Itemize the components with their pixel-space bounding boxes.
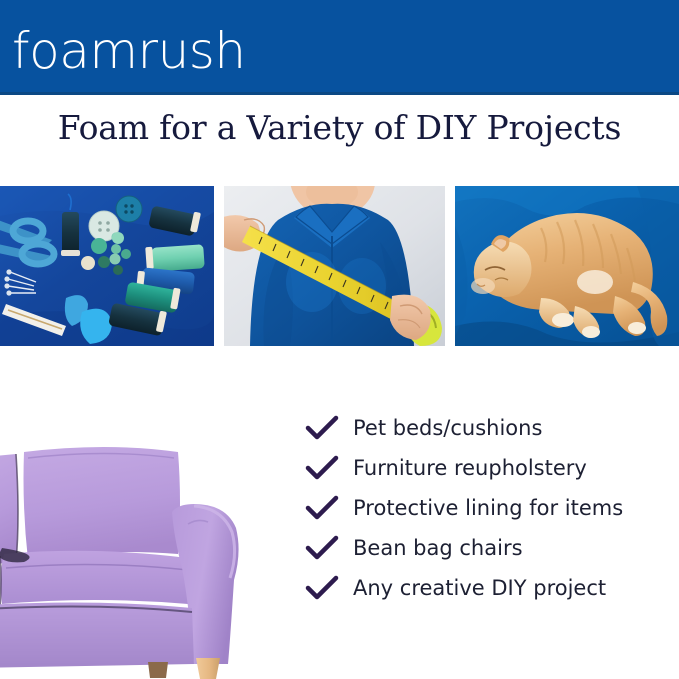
cat-on-cushion-photo — [455, 186, 679, 346]
list-item-label: Any creative DIY project — [353, 575, 606, 601]
brand-logo: foamrush — [12, 22, 246, 80]
list-item-label: Furniture reupholstery — [353, 455, 587, 481]
tape-measure-photo — [224, 186, 445, 346]
sofa-leg-shape — [148, 662, 168, 678]
check-icon — [305, 415, 339, 441]
check-icon — [305, 575, 339, 601]
feature-list: Pet beds/cushions Furniture reupholstery… — [305, 408, 679, 608]
list-item: Protective lining for items — [305, 488, 679, 528]
list-item: Any creative DIY project — [305, 568, 679, 608]
photo-strip — [0, 186, 679, 346]
list-item: Pet beds/cushions — [305, 408, 679, 448]
back-cushion-shape — [24, 447, 181, 560]
tape-measure-artwork — [224, 186, 445, 346]
sofa-artwork — [0, 428, 272, 679]
sofa-base-shape — [0, 602, 194, 668]
sewing-supplies-artwork — [0, 186, 214, 346]
sewing-supplies-photo — [0, 186, 214, 346]
sofa-leg-shape — [196, 658, 220, 679]
check-icon — [305, 535, 339, 561]
check-icon — [305, 455, 339, 481]
thread-spool-shape — [145, 244, 205, 272]
list-item-label: Pet beds/cushions — [353, 415, 542, 441]
list-item-label: Bean bag chairs — [353, 535, 523, 561]
page-title: Foam for a Variety of DIY Projects — [0, 108, 679, 147]
purple-sofa-illustration — [0, 428, 272, 679]
list-item: Furniture reupholstery — [305, 448, 679, 488]
list-item-label: Protective lining for items — [353, 495, 623, 521]
poster-root: foamrush Foam for a Variety of DIY Proje… — [0, 0, 679, 679]
list-item: Bean bag chairs — [305, 528, 679, 568]
cat-artwork — [455, 186, 679, 346]
header-banner: foamrush — [0, 0, 679, 95]
check-icon — [305, 495, 339, 521]
